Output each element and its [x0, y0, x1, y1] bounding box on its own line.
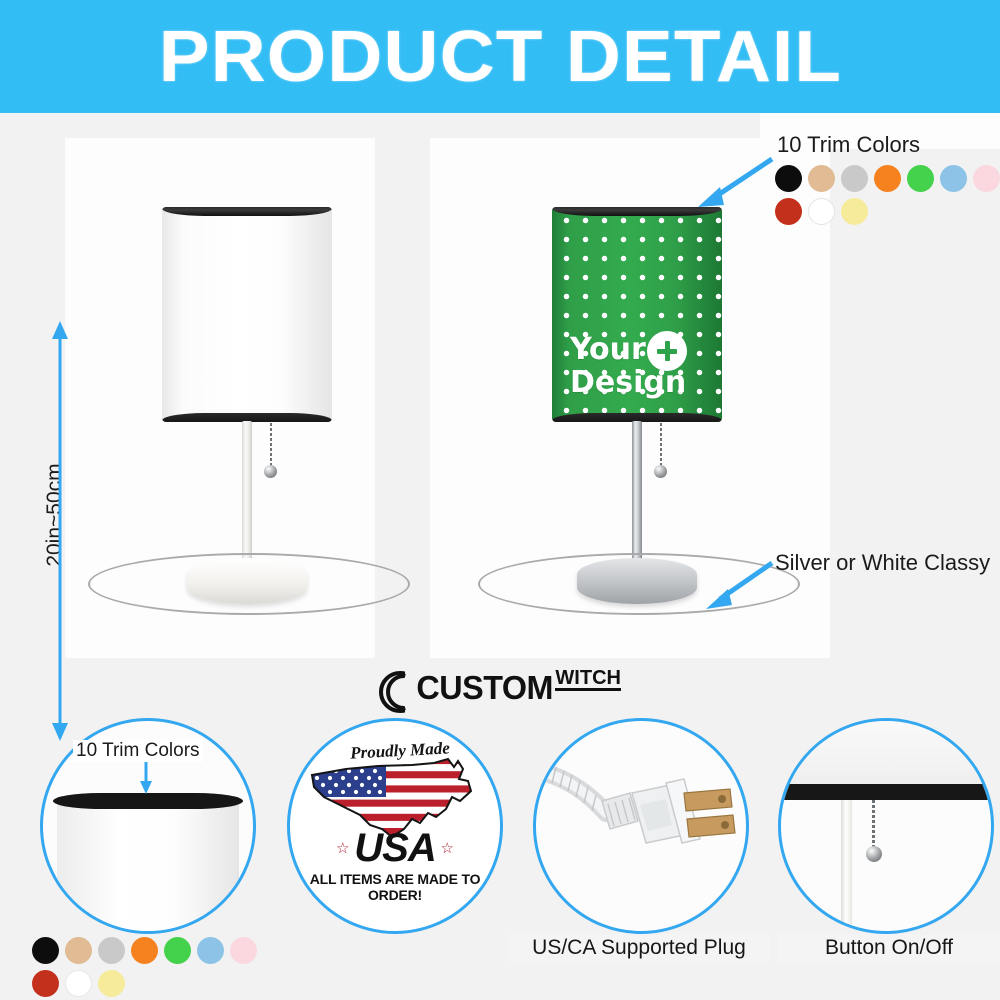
feature-switch-label: Button On/Off [778, 934, 1000, 962]
feature-switch-circle [778, 718, 994, 934]
bottom-swatch-white[interactable] [65, 970, 92, 997]
trim-colors-swatch-list [775, 165, 1000, 225]
usa-star-right-icon: ☆ [441, 839, 454, 857]
usa-badge-subtitle: ALL ITEMS ARE MADE TO ORDER! [290, 871, 500, 903]
feature-plug-label: US/CA Supported Plug [508, 934, 770, 962]
feature-plug-circle [533, 718, 749, 934]
base-finish-pointer-arrow [700, 555, 780, 615]
bottom-swatch-yellow[interactable] [98, 970, 125, 997]
white-lamp-base [187, 558, 307, 604]
swatch-yellow[interactable] [841, 198, 868, 225]
base-finish-callout-label: Silver or White Classy [775, 550, 990, 576]
white-lamp-chain-ball [264, 465, 277, 478]
feature-usa-circle: Proudly Made in the [287, 718, 503, 934]
switch-feature-pull-chain [872, 800, 875, 848]
your-design-line1: Your [570, 332, 646, 367]
swatch-tan[interactable] [808, 165, 835, 192]
swatch-gray[interactable] [841, 165, 868, 192]
bottom-swatch-black[interactable] [32, 937, 59, 964]
white-lamp [150, 173, 350, 653]
bottom-swatch-tan[interactable] [65, 937, 92, 964]
usa-badge-word: USA [290, 826, 500, 871]
usa-star-left-icon: ☆ [336, 839, 349, 857]
white-shade-surface [162, 207, 332, 422]
bottom-swatch-gray[interactable] [98, 937, 125, 964]
brand-logo: CUSTOM WITCH [0, 663, 1000, 713]
logo-secondary-text: WITCH [555, 669, 621, 691]
switch-feature-chain-ball [866, 846, 882, 862]
bottom-swatch-dark-red[interactable] [32, 970, 59, 997]
feature-switch: Button On/Off [768, 718, 998, 993]
product-stage: 7in~18cm 20in~50cm Y [0, 113, 1000, 668]
page-header-banner: PRODUCT DETAIL [0, 0, 1000, 113]
trim-colors-pointer-arrow [690, 153, 780, 213]
feature-trim-colors: 10 Trim Colors [40, 718, 260, 1000]
your-design-text: Your Design [570, 333, 712, 399]
power-plug-icon [544, 763, 744, 893]
switch-feature-shade [778, 718, 994, 791]
c-crescent-icon [379, 671, 413, 705]
page-title: PRODUCT DETAIL [158, 16, 841, 98]
green-lamp-base [577, 558, 697, 604]
swatch-pink[interactable] [973, 165, 1000, 192]
green-lamp-pull-chain [660, 423, 662, 467]
white-lamp-shade [162, 207, 332, 422]
switch-feature-stem [841, 800, 852, 931]
swatch-green[interactable] [907, 165, 934, 192]
trim-colors-callout-label: 10 Trim Colors [777, 132, 920, 158]
feature-trim-colors-swatch-list [32, 937, 267, 997]
feature-plug: US/CA Supported Plug [513, 718, 753, 993]
feature-trim-colors-label: 10 Trim Colors [73, 740, 203, 762]
white-shade-top-trim [162, 207, 332, 216]
green-lamp-chain-ball [654, 465, 667, 478]
bottom-swatch-green[interactable] [164, 937, 191, 964]
bottom-swatch-orange[interactable] [131, 937, 158, 964]
feature-made-in-usa: Proudly Made in the [287, 718, 502, 933]
swatch-white[interactable] [808, 198, 835, 225]
feature-trim-colors-arrow [138, 762, 154, 794]
trim-colors-feature-trim [53, 793, 243, 809]
green-lamp-shade: Your Design [552, 207, 722, 422]
switch-feature-trim [778, 784, 994, 800]
trim-colors-feature-shade [57, 799, 239, 934]
swatch-light-blue[interactable] [940, 165, 967, 192]
bottom-swatch-light-blue[interactable] [197, 937, 224, 964]
bottom-swatch-pink[interactable] [230, 937, 257, 964]
logo-primary-text: CUSTOM [416, 669, 553, 707]
plus-icon [647, 331, 687, 371]
swatch-orange[interactable] [874, 165, 901, 192]
white-lamp-pull-chain [270, 423, 272, 467]
